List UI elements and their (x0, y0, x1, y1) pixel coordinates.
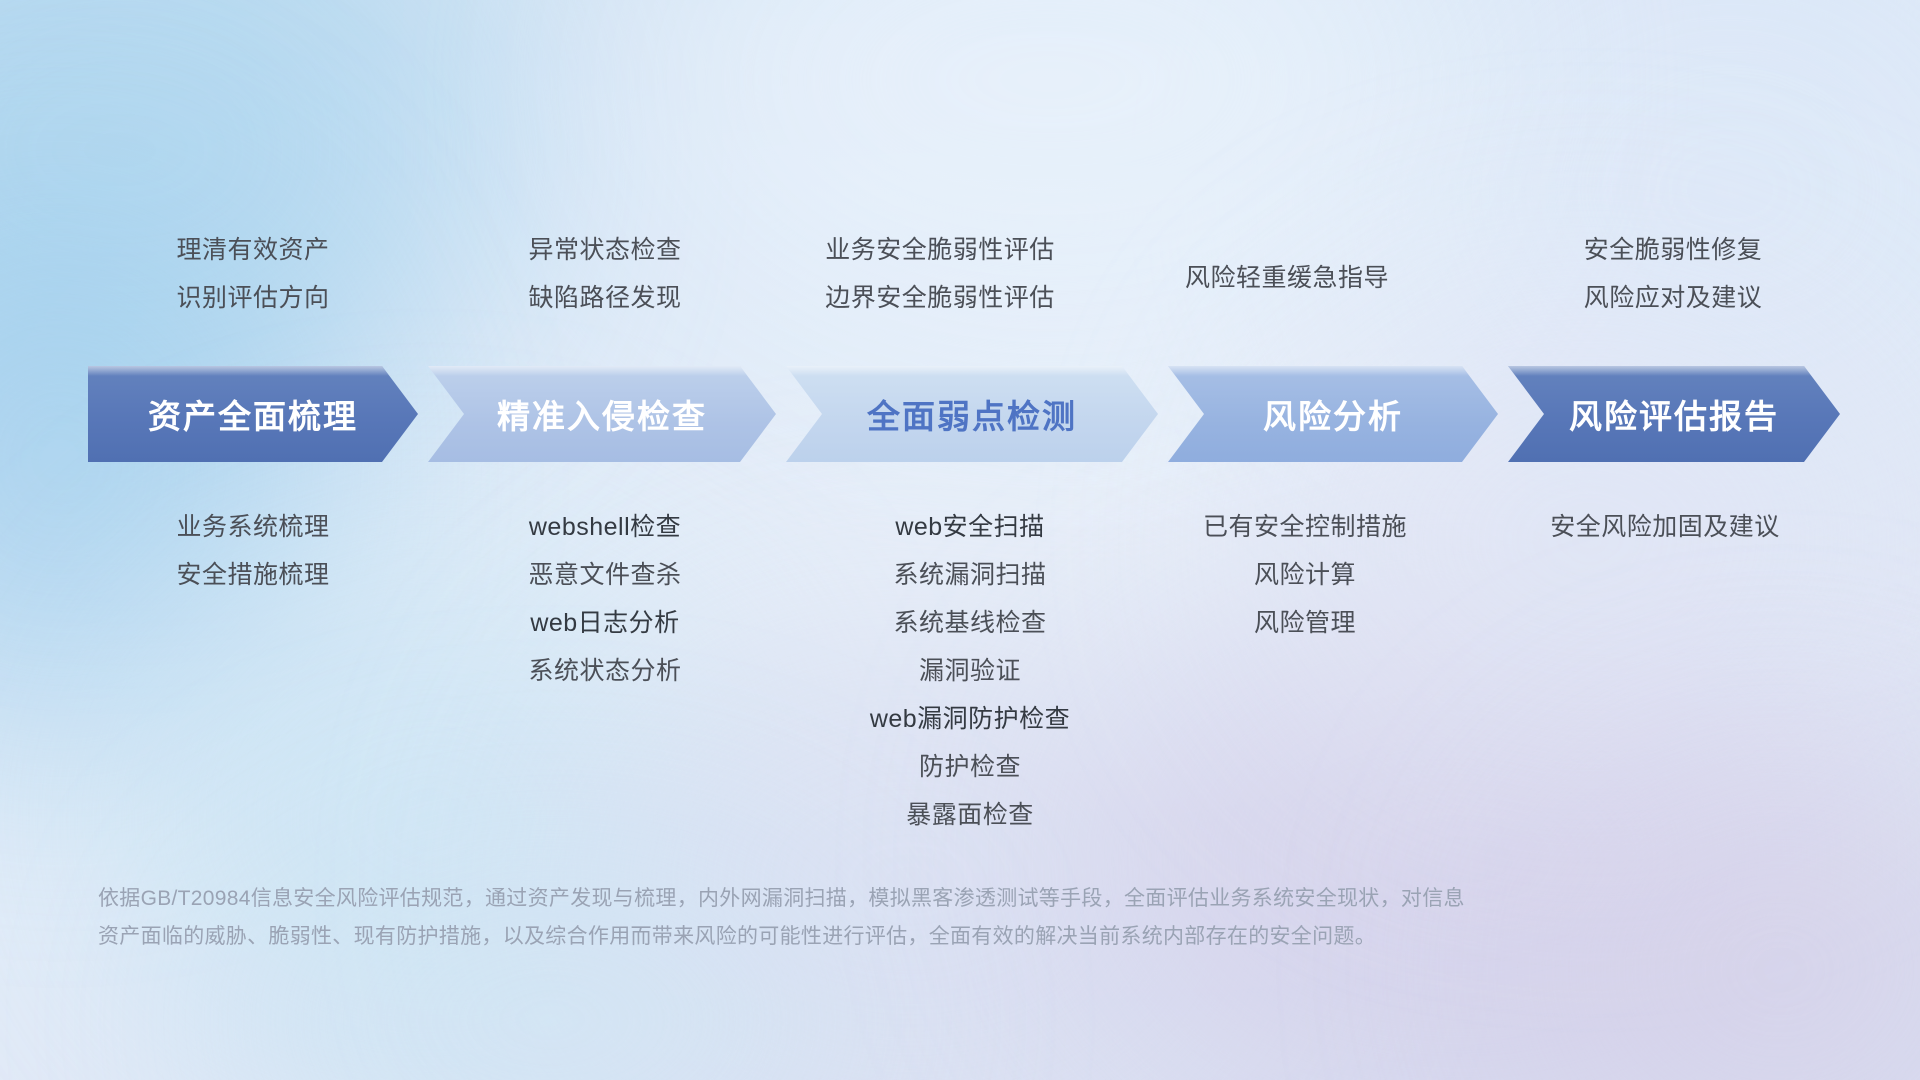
bottom-item: 业务系统梳理 (88, 503, 418, 551)
stage-arrow-weakness-detection[interactable]: 全面弱点检测 (786, 366, 1158, 462)
bottom-item: 暴露面检查 (790, 791, 1150, 839)
bottom-item: 已有安全控制措施 (1140, 503, 1470, 551)
bottom-item: 系统基线检查 (790, 599, 1150, 647)
stage-arrow-risk-analysis[interactable]: 风险分析 (1168, 366, 1498, 462)
top-item: 安全脆弱性修复 (1506, 226, 1840, 274)
process-diagram: 理清有效资产 识别评估方向 异常状态检查 缺陷路径发现 业务安全脆弱性评估 边界… (0, 0, 1920, 1080)
bottom-item: webshell检查 (440, 503, 770, 551)
stage-title: 风险评估报告 (1569, 390, 1779, 438)
bottom-items-intrusion-check: webshell检查 恶意文件查杀 web日志分析 系统状态分析 (440, 503, 770, 695)
top-item: 边界安全脆弱性评估 (760, 274, 1120, 322)
bottom-item: 漏洞验证 (790, 647, 1150, 695)
top-items-asset-inventory: 理清有效资产 识别评估方向 (88, 226, 418, 322)
top-item: 异常状态检查 (440, 226, 770, 274)
bottom-item: 恶意文件查杀 (440, 551, 770, 599)
bottom-item: 系统漏洞扫描 (790, 551, 1150, 599)
bottom-items-asset-inventory: 业务系统梳理 安全措施梳理 (88, 503, 418, 599)
top-item: 理清有效资产 (88, 226, 418, 274)
bottom-items-risk-report: 安全风险加固及建议 (1490, 503, 1840, 551)
top-item: 风险应对及建议 (1506, 274, 1840, 322)
stage-arrow-asset-inventory[interactable]: 资产全面梳理 (88, 366, 418, 462)
stage-title: 风险分析 (1263, 390, 1403, 438)
stage-banner: 资产全面梳理 精准入侵检查 全面弱点检测 风险分析 风险评估报告 (88, 366, 1840, 462)
top-items-intrusion-check: 异常状态检查 缺陷路径发现 (440, 226, 770, 322)
stage-title: 全面弱点检测 (867, 390, 1077, 438)
bottom-item: 防护检查 (790, 743, 1150, 791)
bottom-item: web安全扫描 (790, 503, 1150, 551)
top-item: 风险轻重缓急指导 (1122, 254, 1452, 302)
arrow-sheen (786, 366, 1158, 376)
bottom-item: 安全措施梳理 (88, 551, 418, 599)
arrow-sheen (428, 366, 776, 376)
bottom-items-risk-analysis: 已有安全控制措施 风险计算 风险管理 (1140, 503, 1470, 647)
stage-title: 精准入侵检查 (497, 390, 707, 438)
footer-line: 资产面临的威胁、脆弱性、现有防护措施，以及综合作用而带来风险的可能性进行评估，全… (98, 918, 1658, 956)
arrow-sheen (1508, 366, 1840, 376)
bottom-item: web日志分析 (440, 599, 770, 647)
bottom-items-weakness-detection: web安全扫描 系统漏洞扫描 系统基线检查 漏洞验证 web漏洞防护检查 防护检… (790, 503, 1150, 839)
arrow-sheen (88, 366, 418, 376)
top-items-risk-analysis: 风险轻重缓急指导 (1122, 254, 1452, 302)
top-item: 缺陷路径发现 (440, 274, 770, 322)
bottom-item: web漏洞防护检查 (790, 695, 1150, 743)
bottom-item: 安全风险加固及建议 (1490, 503, 1840, 551)
top-item: 业务安全脆弱性评估 (760, 226, 1120, 274)
top-item: 识别评估方向 (88, 274, 418, 322)
bottom-item: 风险管理 (1140, 599, 1470, 647)
stage-arrow-intrusion-check[interactable]: 精准入侵检查 (428, 366, 776, 462)
stage-arrow-risk-report[interactable]: 风险评估报告 (1508, 366, 1840, 462)
bottom-item: 风险计算 (1140, 551, 1470, 599)
stage-title: 资产全面梳理 (148, 390, 358, 438)
top-items-risk-report: 安全脆弱性修复 风险应对及建议 (1506, 226, 1840, 322)
top-items-weakness-detection: 业务安全脆弱性评估 边界安全脆弱性评估 (760, 226, 1120, 322)
footer-line: 依据GB/T20984信息安全风险评估规范，通过资产发现与梳理，内外网漏洞扫描，… (98, 880, 1658, 918)
bottom-item: 系统状态分析 (440, 647, 770, 695)
footer-description: 依据GB/T20984信息安全风险评估规范，通过资产发现与梳理，内外网漏洞扫描，… (98, 880, 1658, 956)
arrow-sheen (1168, 366, 1498, 376)
